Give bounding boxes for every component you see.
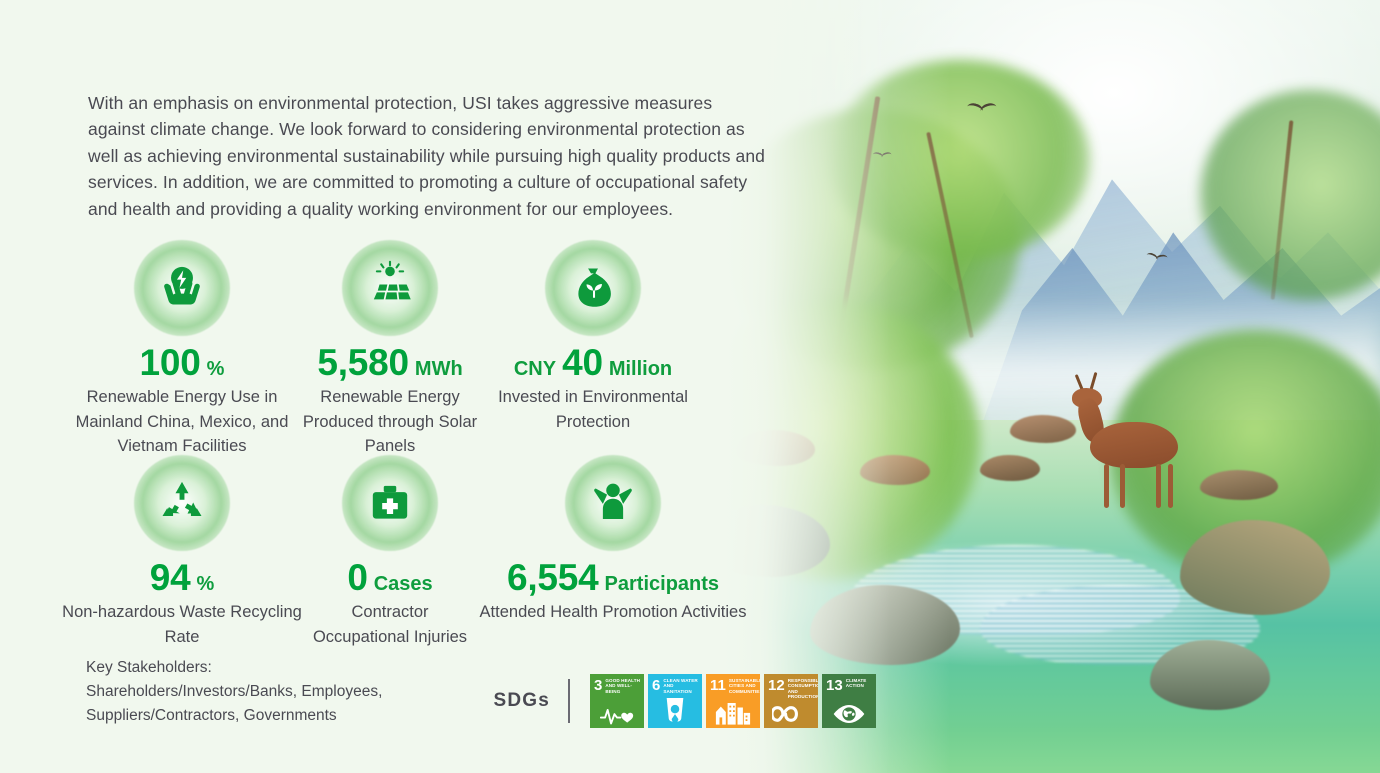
sdg-badge-number: 3 <box>594 678 602 693</box>
stat-value: 5,580 MWh <box>317 344 462 381</box>
stat-caption: Invested in Environmental Protection <box>478 385 708 434</box>
stat-renewable-energy-use: 100 % Renewable Energy Use in Mainland C… <box>62 240 302 459</box>
sdg-badge-title: Good Health and Well-being <box>605 678 641 694</box>
heartbeat-icon <box>590 705 644 725</box>
vertical-divider <box>568 679 570 723</box>
sdg-badge-header: 12Responsible Consumption and Production <box>764 674 818 700</box>
stat-prefix: CNY <box>514 359 556 379</box>
sdg-badge-title: Sustainable Cities and Communities <box>729 678 760 694</box>
stat-caption: Contractor Occupational Injuries <box>302 600 478 649</box>
sdg-badge-number: 6 <box>652 678 660 693</box>
intro-paragraph: With an emphasis on environmental protec… <box>88 90 768 222</box>
sdg-badge-title: Responsible Consumption and Production <box>788 678 818 700</box>
stat-unit: Million <box>609 359 672 379</box>
stat-number: 40 <box>562 344 603 381</box>
stats-row-2: 94 % Non-hazardous Waste Recycling Rate … <box>62 455 762 649</box>
river-rock <box>980 455 1040 481</box>
sdg-section: SDGs 3Good Health and Well-being6Clean W… <box>493 674 876 728</box>
sdg-badge-3[interactable]: 3Good Health and Well-being <box>590 674 644 728</box>
stat-environmental-investment: CNY 40 Million Invested in Environmental… <box>478 240 708 459</box>
sdg-badge-number: 12 <box>768 678 785 693</box>
stat-number: 0 <box>347 559 367 596</box>
stat-health-participants: 6,554 Participants Attended Health Promo… <box>478 455 748 649</box>
bird-icon <box>873 149 894 159</box>
sdg-badge-header: 11Sustainable Cities and Communities <box>706 674 760 694</box>
stat-unit: MWh <box>415 359 463 379</box>
sdg-badge-11[interactable]: 11Sustainable Cities and Communities <box>706 674 760 728</box>
bird-icon <box>967 99 1000 114</box>
stakeholders-body: Shareholders/Investors/Banks, Employees,… <box>86 680 479 728</box>
stat-caption: Non-hazardous Waste Recycling Rate <box>62 600 302 649</box>
river-rock <box>1150 640 1270 710</box>
sdg-badge-header: 13Climate Action <box>822 674 876 693</box>
sdg-badge-number: 13 <box>826 678 843 693</box>
stat-caption: Renewable Energy Use in Mainland China, … <box>62 385 302 459</box>
hands-holding-energy-icon <box>134 240 230 336</box>
sdg-badge-list: 3Good Health and Well-being6Clean Water … <box>590 674 876 728</box>
solar-panel-icon <box>342 240 438 336</box>
stat-value: 100 % <box>140 344 225 381</box>
sdg-badge-header: 3Good Health and Well-being <box>590 674 644 694</box>
sdg-badge-6[interactable]: 6Clean Water and Sanitation <box>648 674 702 728</box>
deer <box>1072 380 1192 510</box>
river-rock <box>1010 415 1076 443</box>
stat-unit: Cases <box>374 574 433 594</box>
stat-unit: Participants <box>605 574 719 594</box>
stat-value: 94 % <box>150 559 215 596</box>
stakeholders-title: Key Stakeholders: <box>86 656 479 680</box>
stat-value: CNY 40 Million <box>514 344 672 381</box>
recycling-icon <box>134 455 230 551</box>
first-aid-kit-icon <box>342 455 438 551</box>
stat-number: 94 <box>150 559 191 596</box>
bird-icon <box>1146 249 1171 263</box>
deer-leg <box>1104 464 1109 508</box>
stat-value: 0 Cases <box>347 559 432 596</box>
sdg-label: SDGs <box>493 690 550 712</box>
footer: Key Stakeholders: Shareholders/Investors… <box>86 656 876 728</box>
stat-caption: Attended Health Promotion Activities <box>480 600 747 625</box>
city-buildings-icon <box>706 699 760 725</box>
money-bag-plant-icon <box>545 240 641 336</box>
stat-number: 6,554 <box>507 559 599 596</box>
deer-body <box>1090 422 1178 468</box>
stat-number: 5,580 <box>317 344 409 381</box>
esg-highlights-page: With an emphasis on environmental protec… <box>0 0 1380 773</box>
river-rock <box>1200 470 1278 500</box>
stat-unit: % <box>207 359 225 379</box>
stat-value: 6,554 Participants <box>507 559 719 596</box>
stat-caption: Renewable Energy Produced through Solar … <box>302 385 478 459</box>
deer-leg <box>1120 464 1125 508</box>
eye-globe-icon <box>822 703 876 725</box>
sdg-badge-title: Clean Water and Sanitation <box>663 678 699 694</box>
sdg-badge-title: Climate Action <box>846 678 873 689</box>
stat-unit: % <box>196 574 214 594</box>
person-arms-raised-icon <box>565 455 661 551</box>
stat-solar-energy: 5,580 MWh Renewable Energy Produced thro… <box>302 240 478 459</box>
stat-number: 100 <box>140 344 201 381</box>
stat-waste-recycling: 94 % Non-hazardous Waste Recycling Rate <box>62 455 302 649</box>
stat-contractor-injuries: 0 Cases Contractor Occupational Injuries <box>302 455 478 649</box>
sdg-badge-13[interactable]: 13Climate Action <box>822 674 876 728</box>
stats-row-1: 100 % Renewable Energy Use in Mainland C… <box>62 240 762 459</box>
key-stakeholders: Key Stakeholders: Shareholders/Investors… <box>86 656 479 728</box>
infinity-icon <box>764 703 818 725</box>
deer-leg <box>1156 464 1161 508</box>
deer-leg <box>1168 464 1173 508</box>
sdg-badge-number: 11 <box>710 678 726 693</box>
sdg-badge-header: 6Clean Water and Sanitation <box>648 674 702 694</box>
water-glass-icon <box>648 695 702 725</box>
river-rock <box>860 455 930 485</box>
sdg-badge-12[interactable]: 12Responsible Consumption and Production <box>764 674 818 728</box>
